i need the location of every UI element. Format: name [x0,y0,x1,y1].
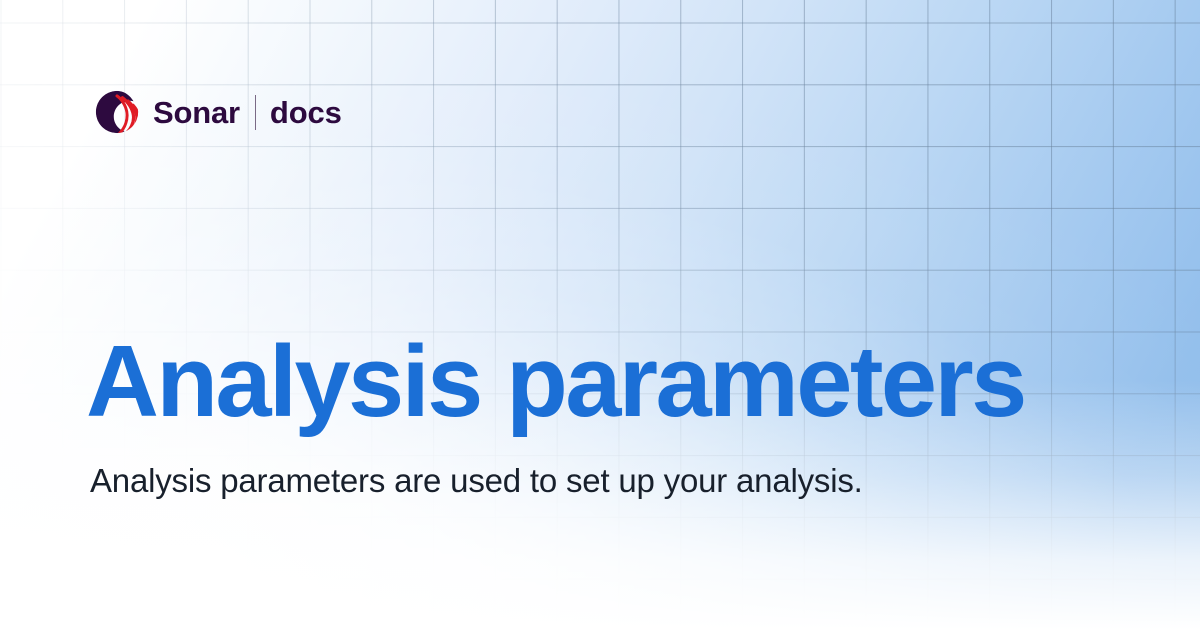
logo-divider [255,95,256,130]
hero-text-block: Analysis parameters Analysis parameters … [86,330,1106,503]
page-title: Analysis parameters [86,330,1106,435]
card-content: Sonar docs Analysis parameters Analysis … [0,0,1200,630]
sonar-wordmark: Sonar [153,97,240,128]
docs-subbrand-label: docs [270,97,342,128]
page-description: Analysis parameters are used to set up y… [90,459,880,503]
sonar-docs-logo-lockup[interactable]: Sonar docs [94,88,342,136]
og-card: Sonar docs Analysis parameters Analysis … [0,0,1200,630]
sonar-logo-mark-icon [94,89,140,135]
